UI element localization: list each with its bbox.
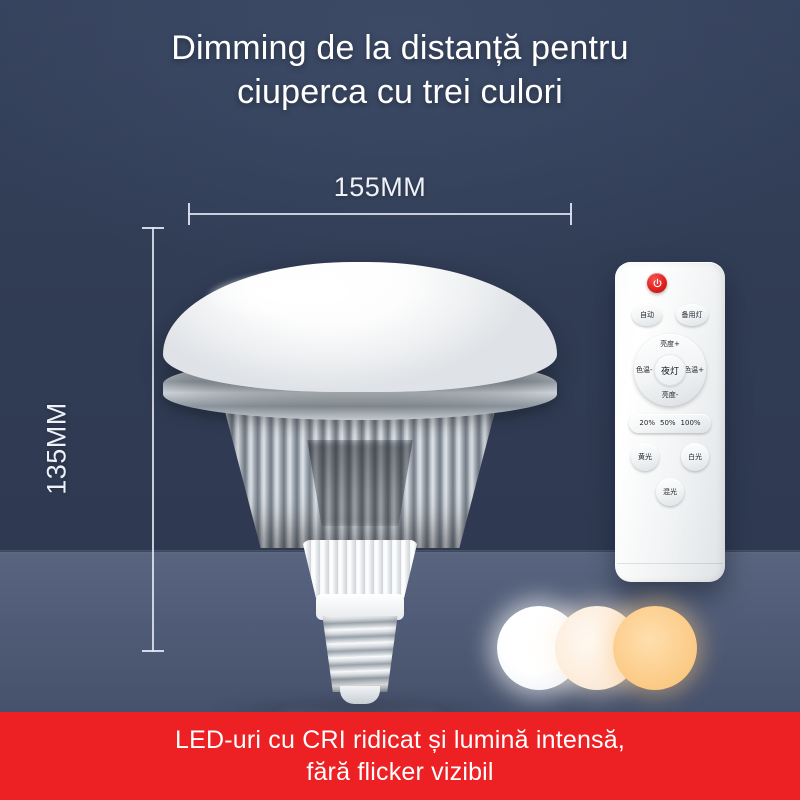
footer-line-1: LED-uri cu CRI ridicat și lumină intensă… — [175, 724, 625, 756]
width-dimension-line — [188, 213, 572, 215]
power-button[interactable] — [647, 273, 667, 293]
color-temp-up-button[interactable]: 色温+ — [684, 367, 704, 374]
title-line-1: Dimming de la distanță pentru — [0, 26, 800, 70]
color-temperature-swatches — [497, 602, 703, 694]
remote-battery-seam — [617, 563, 723, 564]
bulb-base-tip — [340, 686, 380, 704]
dim-level-20[interactable]: 20% — [639, 420, 655, 427]
dim-level-button[interactable]: 20% 50% 100% — [629, 414, 711, 433]
footer-line-2: fără flicker vizibil — [175, 756, 625, 788]
power-icon — [652, 278, 663, 289]
remote-control: 自动 备用灯 亮度+ 亮度- 色温- 色温+ 夜灯 20% 50% 100% 黄… — [615, 262, 725, 582]
height-dimension-tick-top — [142, 227, 164, 229]
width-dimension-label: 155MM — [188, 172, 572, 203]
dim-level-50[interactable]: 50% — [660, 420, 676, 427]
page-title: Dimming de la distanță pentru ciuperca c… — [0, 26, 800, 114]
product-banner-image: Dimming de la distanță pentru ciuperca c… — [0, 0, 800, 800]
bulb-dome-highlight — [208, 272, 418, 324]
title-line-2: ciuperca cu trei culori — [0, 70, 800, 114]
width-dimension-tick-left — [188, 203, 190, 225]
footer-banner: LED-uri cu CRI ridicat și lumină intensă… — [0, 712, 800, 800]
dim-level-100[interactable]: 100% — [681, 420, 701, 427]
warm-light-button[interactable]: 黄光 — [631, 443, 659, 471]
dpad-control[interactable]: 亮度+ 亮度- 色温- 色温+ 夜灯 — [634, 334, 706, 406]
footer-text: LED-uri cu CRI ridicat și lumină intensă… — [175, 724, 625, 788]
color-swatch-warm-white — [613, 606, 697, 690]
mixed-light-button[interactable]: 混光 — [656, 478, 684, 506]
brightness-down-button[interactable]: 亮度- — [634, 392, 706, 399]
bulb-e27-screw-base — [320, 616, 400, 692]
brightness-up-button[interactable]: 亮度+ — [634, 341, 706, 348]
cool-light-button[interactable]: 白光 — [681, 443, 709, 471]
auto-button[interactable]: 自动 — [632, 304, 662, 326]
bulb-neck — [302, 540, 418, 598]
height-dimension-label: 135MM — [42, 329, 73, 569]
night-light-button[interactable]: 夜灯 — [654, 354, 686, 386]
backup-light-button[interactable]: 备用灯 — [676, 304, 708, 326]
width-dimension-tick-right — [570, 203, 572, 225]
color-temp-down-button[interactable]: 色温- — [636, 367, 653, 374]
